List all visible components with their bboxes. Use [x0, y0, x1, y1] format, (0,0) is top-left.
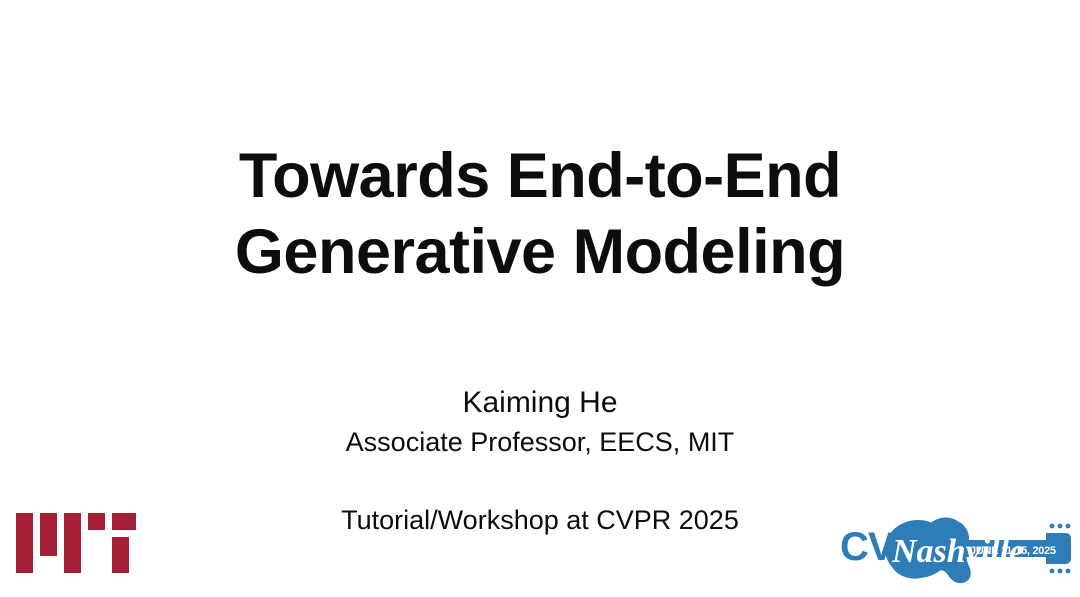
- slide-canvas: Towards End-to-End Generative Modeling K…: [0, 0, 1080, 597]
- cvpr-dates: JUNE 11-15, 2025: [970, 545, 1056, 557]
- author-affiliation: Associate Professor, EECS, MIT: [0, 423, 1080, 461]
- author-name: Kaiming He: [0, 382, 1080, 423]
- mit-logo-i-dot: [88, 513, 105, 530]
- mit-logo-t-stem: [112, 537, 129, 573]
- mit-logo-bar-3: [64, 513, 81, 573]
- mit-logo: [16, 513, 136, 573]
- cvpr-nashville-logo: CVPR Nashville JUNE 11-15, 2025: [840, 512, 1072, 584]
- mit-logo-bar-1: [16, 513, 33, 573]
- title-line-1: Towards End-to-End: [0, 138, 1080, 214]
- mit-logo-bar-2: [40, 513, 57, 556]
- title-line-2: Generative Modeling: [0, 214, 1080, 290]
- mit-logo-t-crossbar: [112, 513, 136, 530]
- author-block: Kaiming He Associate Professor, EECS, MI…: [0, 382, 1080, 461]
- page-title: Towards End-to-End Generative Modeling: [0, 138, 1080, 290]
